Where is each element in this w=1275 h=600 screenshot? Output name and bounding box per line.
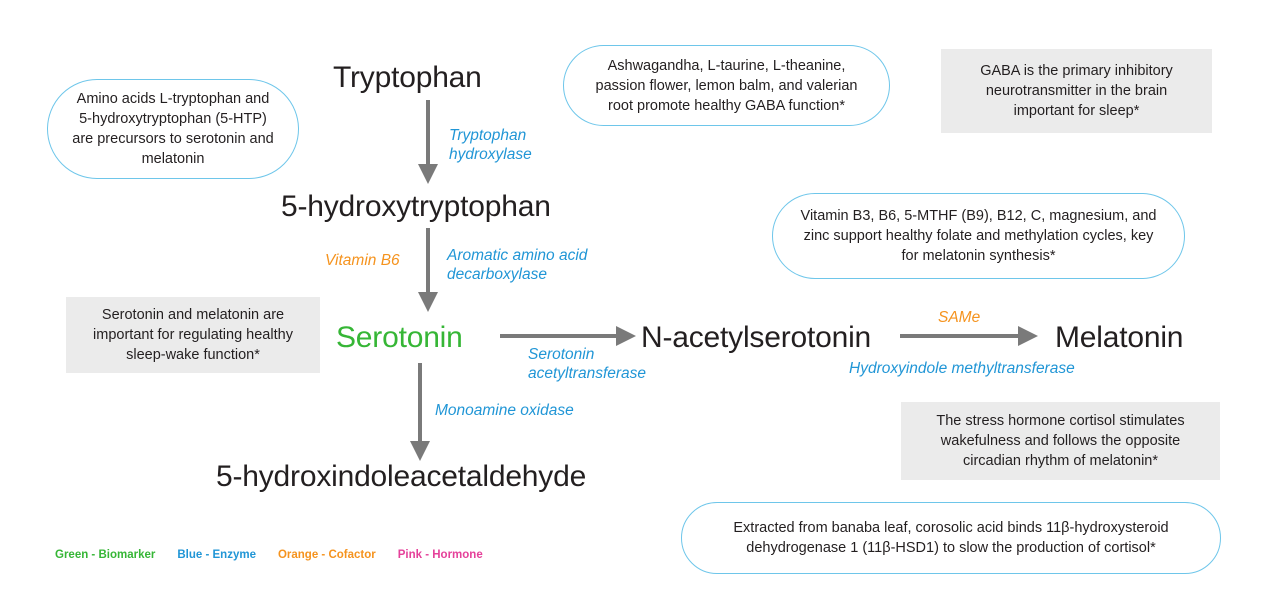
callout-text: Ashwagandha, L-taurine, L-theanine, pass…	[586, 56, 867, 116]
callout-gaba-botanicals: Ashwagandha, L-taurine, L-theanine, pass…	[563, 45, 890, 126]
note-gaba-inhibitory: GABA is the primary inhibitory neurotran…	[941, 49, 1212, 133]
note-sleep-wake-regulation: Serotonin and melatonin are important fo…	[66, 297, 320, 373]
note-text: Serotonin and melatonin are important fo…	[80, 305, 306, 365]
legend-item-orange-cofactor: Orange - Cofactor	[278, 549, 376, 561]
node-n-acetylserotonin: N-acetylserotonin	[641, 321, 871, 355]
legend-item-green-biomarker: Green - Biomarker	[55, 549, 155, 561]
node-melatonin: Melatonin	[1055, 321, 1183, 355]
cofactor-label-same: SAMe	[938, 308, 980, 327]
callout-amino-acid-precursors: Amino acids L-tryptophan and 5-hydroxytr…	[47, 79, 299, 179]
note-text: GABA is the primary inhibitory neurotran…	[955, 61, 1198, 121]
arrow-serotonin-to-n-acetylserotonin	[500, 325, 638, 347]
node-serotonin: Serotonin	[336, 321, 463, 355]
callout-corosolic-acid: Extracted from banaba leaf, corosolic ac…	[681, 502, 1221, 574]
enzyme-label-tryptophan-hydroxylase: Tryptophan hydroxylase	[449, 126, 532, 164]
callout-text: Vitamin B3, B6, 5-MTHF (B9), B12, C, mag…	[795, 206, 1162, 266]
legend-item-blue-enzyme: Blue - Enzyme	[177, 549, 256, 561]
callout-methylation-nutrients: Vitamin B3, B6, 5-MTHF (B9), B12, C, mag…	[772, 193, 1185, 279]
note-cortisol-circadian: The stress hormone cortisol stimulates w…	[901, 402, 1220, 480]
node-5-hydroxindoleacetaldehyde: 5-hydroxindoleacetaldehyde	[216, 460, 586, 494]
note-text: The stress hormone cortisol stimulates w…	[915, 411, 1206, 471]
arrow-tryptophan-to-5htp	[415, 100, 441, 186]
enzyme-label-monoamine-oxidase: Monoamine oxidase	[435, 401, 574, 420]
pathway-diagram: Tryptophan 5-hydroxytryptophan Serotonin…	[0, 0, 1275, 600]
enzyme-label-hydroxyindole-methyltransferase: Hydroxyindole methyltransferase	[849, 359, 1075, 378]
legend: Green - Biomarker Blue - Enzyme Orange -…	[55, 549, 483, 561]
cofactor-label-vitamin-b6: Vitamin B6	[325, 251, 400, 270]
callout-text: Amino acids L-tryptophan and 5-hydroxytr…	[70, 89, 276, 169]
node-tryptophan: Tryptophan	[333, 61, 482, 95]
arrow-5htp-to-serotonin	[415, 228, 441, 314]
enzyme-label-aromatic-amino-acid-decarboxylase: Aromatic amino acid decarboxylase	[447, 246, 587, 284]
node-5-hydroxytryptophan: 5-hydroxytryptophan	[281, 190, 551, 224]
arrow-serotonin-to-5hiaald	[407, 363, 433, 463]
callout-text: Extracted from banaba leaf, corosolic ac…	[704, 518, 1198, 558]
arrow-n-acetylserotonin-to-melatonin	[900, 325, 1040, 347]
enzyme-label-serotonin-acetyltransferase: Serotonin acetyltransferase	[528, 345, 646, 383]
legend-item-pink-hormone: Pink - Hormone	[398, 549, 483, 561]
